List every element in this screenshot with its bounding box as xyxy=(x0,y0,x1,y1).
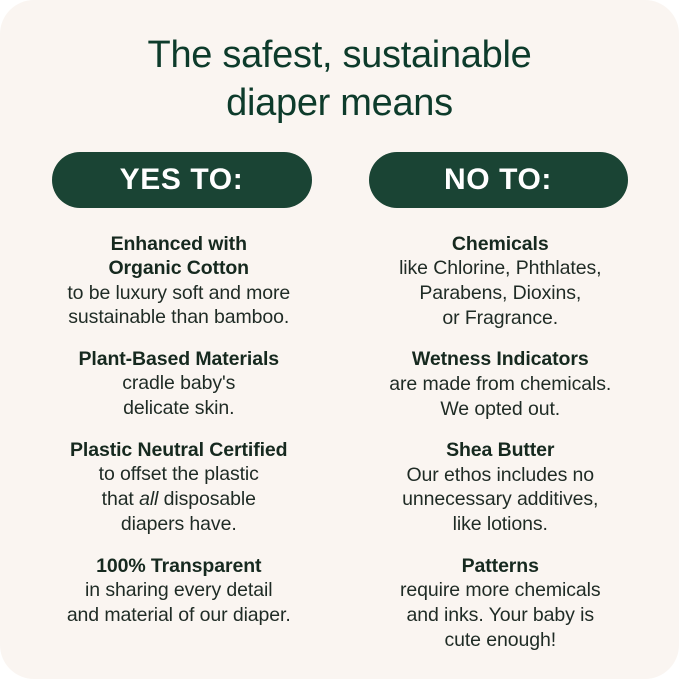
feature-heading-line: Patterns xyxy=(348,554,654,578)
pill-row: YES TO: NO TO: xyxy=(0,152,679,208)
feature-body-line: and inks. Your baby is xyxy=(348,603,654,628)
infographic-card: The safest, sustainable diaper means YES… xyxy=(0,0,679,679)
feature-body-line: unnecessary additives, xyxy=(348,487,654,512)
feature-heading-line: Enhanced with xyxy=(26,232,332,256)
feature-heading-line: 100% Transparent xyxy=(26,554,332,578)
feature-heading: Wetness Indicators xyxy=(348,347,654,371)
feature-entry: Plastic Neutral Certifiedto offset the p… xyxy=(26,438,332,537)
feature-entry: Patternsrequire more chemicalsand inks. … xyxy=(348,554,654,653)
feature-heading-line: Shea Butter xyxy=(348,438,654,462)
feature-body: in sharing every detailand material of o… xyxy=(26,578,332,628)
feature-heading: 100% Transparent xyxy=(26,554,332,578)
feature-body: like Chlorine, Phthlates,Parabens, Dioxi… xyxy=(348,256,654,330)
feature-body-line: and material of our diaper. xyxy=(26,603,332,628)
feature-entry: 100% Transparentin sharing every detaila… xyxy=(26,554,332,628)
feature-body-line: like lotions. xyxy=(348,512,654,537)
no-to-label: NO TO: xyxy=(444,163,552,197)
feature-heading: Plant-Based Materials xyxy=(26,347,332,371)
yes-to-pill[interactable]: YES TO: xyxy=(52,152,312,208)
yes-to-label: YES TO: xyxy=(120,163,244,197)
feature-body-line: cute enough! xyxy=(348,628,654,653)
feature-body-line: to offset the plastic xyxy=(26,462,332,487)
feature-body-line: that all disposable xyxy=(26,487,332,512)
feature-heading-line: Organic Cotton xyxy=(26,256,332,280)
feature-body-line: cradle baby's xyxy=(26,371,332,396)
feature-body-line: are made from chemicals. xyxy=(348,372,654,397)
feature-heading: Patterns xyxy=(348,554,654,578)
feature-heading-line: Wetness Indicators xyxy=(348,347,654,371)
feature-entry: Plant-Based Materialscradle baby'sdelica… xyxy=(26,347,332,421)
feature-entry: Chemicalslike Chlorine, Phthlates,Parabe… xyxy=(348,232,654,331)
feature-heading: Plastic Neutral Certified xyxy=(26,438,332,462)
feature-body-line: to be luxury soft and more xyxy=(26,281,332,306)
no-column: Chemicalslike Chlorine, Phthlates,Parabe… xyxy=(340,232,662,653)
feature-entry: Wetness Indicatorsare made from chemical… xyxy=(348,347,654,421)
feature-body: require more chemicalsand inks. Your bab… xyxy=(348,578,654,652)
yes-column: Enhanced withOrganic Cottonto be luxury … xyxy=(18,232,340,628)
feature-heading-line: Chemicals xyxy=(348,232,654,256)
feature-entry: Shea ButterOur ethos includes nounnecess… xyxy=(348,438,654,537)
feature-body: to be luxury soft and moresustainable th… xyxy=(26,281,332,331)
feature-body: Our ethos includes nounnecessary additiv… xyxy=(348,463,654,537)
feature-heading-line: Plastic Neutral Certified xyxy=(26,438,332,462)
feature-body-line: Parabens, Dioxins, xyxy=(348,281,654,306)
feature-body-line: delicate skin. xyxy=(26,396,332,421)
title-line-1: The safest, sustainable xyxy=(60,32,619,80)
feature-heading: Enhanced withOrganic Cotton xyxy=(26,232,332,281)
feature-entry: Enhanced withOrganic Cottonto be luxury … xyxy=(26,232,332,330)
feature-body-line: like Chlorine, Phthlates, xyxy=(348,256,654,281)
feature-body-line: diapers have. xyxy=(26,512,332,537)
feature-heading: Chemicals xyxy=(348,232,654,256)
feature-heading: Shea Butter xyxy=(348,438,654,462)
feature-body-line: Our ethos includes no xyxy=(348,463,654,488)
feature-body: cradle baby'sdelicate skin. xyxy=(26,371,332,421)
feature-body-line: require more chemicals xyxy=(348,578,654,603)
columns-wrapper: Enhanced withOrganic Cottonto be luxury … xyxy=(0,232,679,653)
feature-body-line: We opted out. xyxy=(348,397,654,422)
feature-body: are made from chemicals.We opted out. xyxy=(348,372,654,422)
no-to-pill[interactable]: NO TO: xyxy=(369,152,628,208)
feature-body-line: sustainable than bamboo. xyxy=(26,305,332,330)
feature-body-line: or Fragrance. xyxy=(348,306,654,331)
feature-heading-line: Plant-Based Materials xyxy=(26,347,332,371)
feature-body: to offset the plasticthat all disposable… xyxy=(26,462,332,536)
emphasis-word: all xyxy=(139,488,158,510)
page-title: The safest, sustainable diaper means xyxy=(0,0,679,128)
title-line-2: diaper means xyxy=(60,80,619,128)
feature-body-line: in sharing every detail xyxy=(26,578,332,603)
